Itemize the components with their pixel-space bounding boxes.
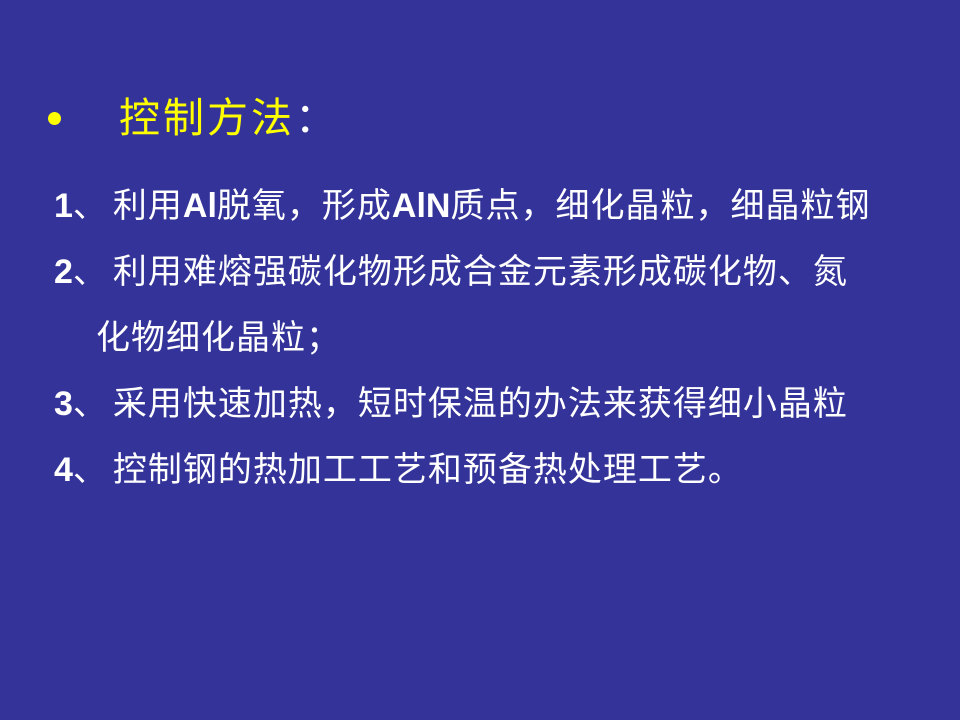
- slide-title-row: 控制方法 ：: [48, 98, 336, 139]
- list-item-text: 化物细化晶粒；: [96, 310, 341, 359]
- list-item-text: 控制钢的热加工工艺和预备热处理工艺。: [113, 442, 743, 491]
- list-item: 4、控制钢的热加工工艺和预备热处理工艺。: [54, 442, 954, 508]
- presentation-slide: 控制方法 ： 1、利用Al脱氧，形成AlN质点，细化晶粒，细晶粒钢2、利用难熔强…: [0, 0, 960, 720]
- list-item-number: 1: [54, 187, 73, 226]
- text-run: 化物细化晶粒；: [96, 320, 341, 357]
- list-item-number: 3: [54, 385, 73, 424]
- bullet-point-icon: [48, 112, 61, 125]
- list-item-separator: 、: [73, 442, 107, 491]
- list-item: 3、采用快速加热，短时保温的办法来获得细小晶粒: [54, 376, 954, 442]
- list-item-number: 2: [54, 253, 73, 292]
- slide-body-list: 1、利用Al脱氧，形成AlN质点，细化晶粒，细晶粒钢2、利用难熔强碳化物形成合金…: [54, 178, 954, 508]
- text-run: 利用难熔强碳化物形成合金元素形成碳化物、氮: [113, 254, 848, 291]
- list-item-text: 利用难熔强碳化物形成合金元素形成碳化物、氮: [113, 244, 848, 293]
- list-item-number: 4: [54, 451, 73, 490]
- text-run: 脱氧，形成: [217, 188, 392, 225]
- list-item: 2、利用难熔强碳化物形成合金元素形成碳化物、氮: [54, 244, 954, 310]
- list-item-separator: 、: [73, 244, 107, 293]
- chemical-formula: AlN: [392, 187, 451, 225]
- list-item-text: 利用Al脱氧，形成AlN质点，细化晶粒，细晶粒钢: [113, 178, 871, 227]
- chemical-formula: Al: [183, 187, 217, 225]
- list-item: 化物细化晶粒；: [54, 310, 954, 376]
- text-run: 控制钢的热加工工艺和预备热处理工艺。: [113, 452, 743, 489]
- list-item-text: 采用快速加热，短时保温的办法来获得细小晶粒: [113, 376, 848, 425]
- list-item-separator: 、: [73, 376, 107, 425]
- slide-title: 控制方法: [119, 98, 295, 139]
- text-run: 质点，细化晶粒，细晶粒钢: [450, 188, 870, 225]
- text-run: 利用: [113, 188, 183, 225]
- list-item: 1、利用Al脱氧，形成AlN质点，细化晶粒，细晶粒钢: [54, 178, 954, 244]
- slide-title-colon: ：: [295, 98, 336, 139]
- list-item-separator: 、: [73, 178, 107, 227]
- text-run: 采用快速加热，短时保温的办法来获得细小晶粒: [113, 386, 848, 423]
